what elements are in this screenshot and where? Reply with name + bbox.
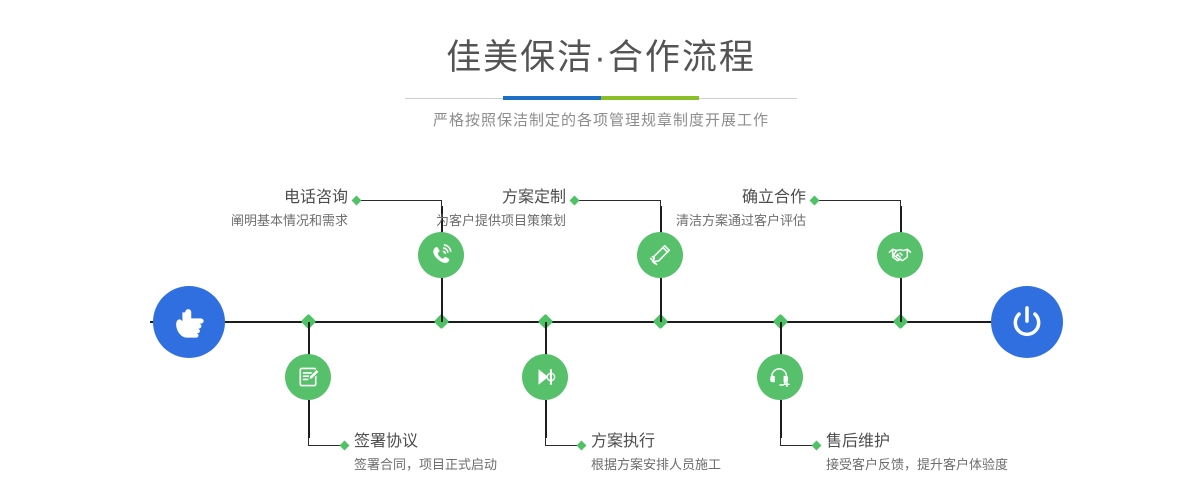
power-icon <box>1007 302 1047 342</box>
play-execute-icon <box>532 364 558 390</box>
timeline-end-endpoint <box>991 286 1063 358</box>
step-title-6: 售后维护 <box>826 432 1156 452</box>
node-lead-vertical-5 <box>900 200 901 208</box>
step-caption-5: 确立合作 清洁方案通过客户评估 <box>498 188 806 230</box>
step-icon-4 <box>522 354 568 400</box>
node-lead-5 <box>818 200 900 201</box>
process-timeline: 电话咨询 阐明基本情况和需求 签署协议 签署合同，项目正式启动 <box>0 0 1202 502</box>
node-stem-5 <box>900 278 902 322</box>
node-lead-tip-5 <box>810 196 820 206</box>
step-icon-2 <box>285 354 331 400</box>
pencil-ruler-icon <box>647 242 673 268</box>
node-stem-6-lower <box>780 400 782 438</box>
timeline-start-endpoint <box>153 286 225 358</box>
step-icon-5 <box>877 232 923 278</box>
node-stem-6 <box>780 322 782 356</box>
step-desc-5: 清洁方案通过客户评估 <box>498 211 806 230</box>
step-icon-3 <box>637 232 683 278</box>
handshake-icon <box>887 242 913 268</box>
node-stem-1 <box>441 278 443 322</box>
node-stem-2 <box>308 322 310 356</box>
pointing-hand-icon <box>169 302 209 342</box>
phone-call-icon <box>428 242 454 268</box>
node-stem-2-lower <box>308 400 310 438</box>
step-icon-1 <box>418 232 464 278</box>
step-caption-6: 售后维护 接受客户反馈，提升客户体验度 <box>826 432 1156 474</box>
node-stem-3 <box>660 278 662 322</box>
node-stem-4 <box>545 322 547 356</box>
headset-support-icon <box>767 364 793 390</box>
node-stem-4-lower <box>545 400 547 438</box>
step-desc-6: 接受客户反馈，提升客户体验度 <box>826 455 1156 474</box>
document-sign-icon <box>295 364 321 390</box>
step-icon-6 <box>757 354 803 400</box>
node-lead-tip-2 <box>340 441 350 451</box>
timeline-axis <box>150 321 1052 323</box>
step-title-5: 确立合作 <box>498 188 806 208</box>
